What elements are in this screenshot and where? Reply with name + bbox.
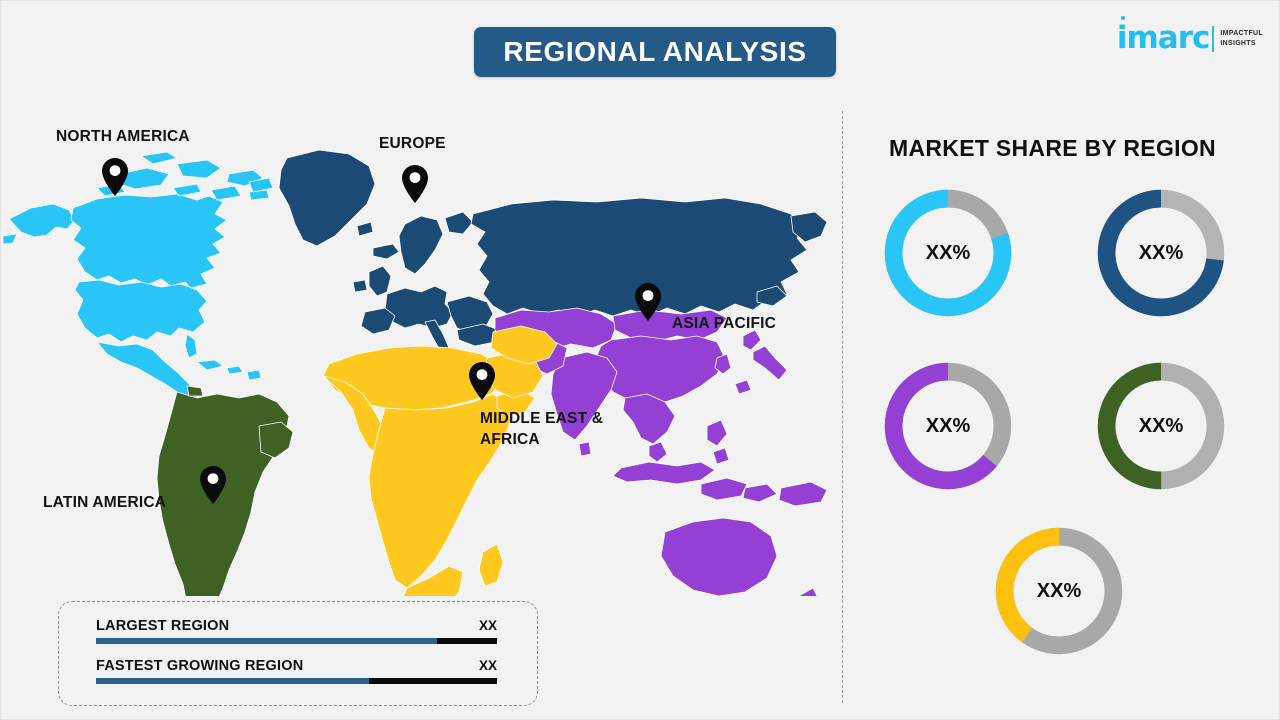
map-pin-europe[interactable] bbox=[400, 164, 430, 204]
logo-tagline: IMPACTFUL INSIGHTS bbox=[1220, 29, 1263, 48]
infographic-page: REGIONAL ANALYSIS imarc IMPACTFUL INSIGH… bbox=[0, 0, 1280, 720]
logo-tagline-line1: IMPACTFUL bbox=[1220, 29, 1263, 38]
map-pin-asia-pacific[interactable] bbox=[633, 282, 663, 322]
donut-chart-latin-america: XX% bbox=[1093, 358, 1229, 494]
donut-chart-north-america: XX% bbox=[880, 185, 1016, 321]
legend-label-fastest-growing-region: FASTEST GROWING REGION bbox=[96, 658, 303, 674]
legend-row-largest-region: LARGEST REGION XX bbox=[96, 618, 497, 644]
logo-word-text: imarc bbox=[1117, 20, 1210, 56]
logo-dot-icon bbox=[1121, 16, 1125, 20]
panel-divider bbox=[842, 111, 843, 703]
legend-bar-track-fastest-growing-region bbox=[96, 678, 497, 684]
region-label-middle-east-africa: MIDDLE EAST & AFRICA bbox=[480, 409, 603, 451]
region-label-asia-pacific: ASIA PACIFIC bbox=[672, 314, 776, 335]
donut-chart-middle-east-africa: XX% bbox=[991, 523, 1127, 659]
region-label-latin-america: LATIN AMERICA bbox=[43, 493, 166, 514]
legend-bar-track-largest-region bbox=[96, 638, 497, 644]
imarc-logo: imarc IMPACTFUL INSIGHTS bbox=[1117, 23, 1263, 54]
legend-box: LARGEST REGION XX FASTEST GROWING REGION… bbox=[58, 601, 538, 706]
logo-divider bbox=[1212, 26, 1214, 52]
map-region-north-america bbox=[3, 152, 273, 402]
page-title: REGIONAL ANALYSIS bbox=[503, 36, 806, 68]
donut-chart-asia-pacific: XX% bbox=[880, 358, 1016, 494]
legend-value-fastest-growing-region: XX bbox=[479, 658, 497, 673]
map-pin-north-america[interactable] bbox=[100, 157, 130, 197]
map-pin-latin-america[interactable] bbox=[198, 465, 228, 505]
region-label-north-america: NORTH AMERICA bbox=[56, 127, 190, 148]
map-pin-middle-east-africa[interactable] bbox=[467, 361, 497, 401]
page-title-banner: REGIONAL ANALYSIS bbox=[474, 27, 836, 77]
logo-tagline-line2: INSIGHTS bbox=[1220, 39, 1263, 48]
legend-bar-fill-fastest-growing-region bbox=[96, 678, 369, 684]
donut-chart-europe: XX% bbox=[1093, 185, 1229, 321]
panel-title: MARKET SHARE BY REGION bbox=[889, 135, 1216, 162]
legend-value-largest-region: XX bbox=[479, 618, 497, 633]
legend-label-largest-region: LARGEST REGION bbox=[96, 618, 229, 634]
map-region-middle-east-africa bbox=[323, 326, 557, 596]
logo-wordmark: imarc bbox=[1117, 23, 1210, 54]
legend-bar-fill-largest-region bbox=[96, 638, 437, 644]
region-label-europe: EUROPE bbox=[379, 134, 446, 155]
legend-row-fastest-growing-region: FASTEST GROWING REGION XX bbox=[96, 658, 497, 684]
